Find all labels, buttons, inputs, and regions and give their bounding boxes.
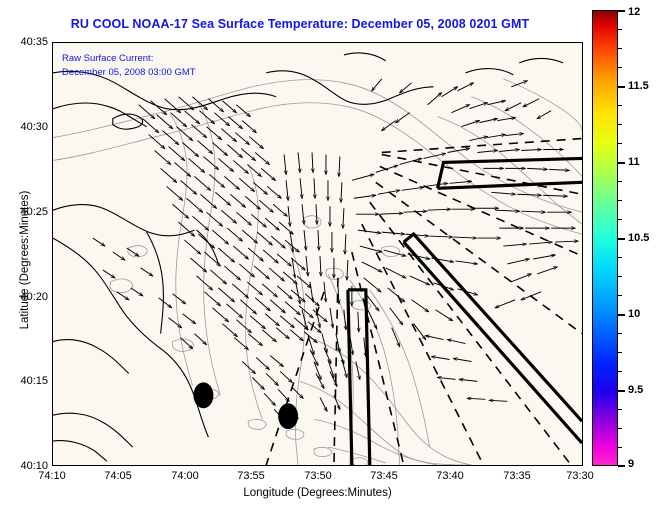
x-tick-label: 73:45: [370, 470, 398, 482]
y-tick-label: 40:35: [20, 36, 48, 48]
page-title: RU COOL NOAA-17 Sea Surface Temperature:…: [0, 17, 600, 31]
y-tick-label: 40:30: [20, 121, 48, 133]
surface-current-vectors: [93, 79, 578, 420]
colorbar-tick-label: 9: [628, 458, 634, 470]
map-vector-canvas: [53, 43, 582, 465]
bathymetry-contours: [53, 79, 582, 465]
x-tick-label: 74:05: [104, 470, 132, 482]
colorbar-tick-label: 11: [628, 156, 640, 168]
colorbar-tick-label: 11.5: [628, 80, 649, 92]
x-tick-label: 73:35: [503, 470, 531, 482]
x-tick-label: 74:00: [171, 470, 199, 482]
screenshot-root: RU COOL NOAA-17 Sea Surface Temperature:…: [0, 0, 660, 519]
colorbar-tick-label: 10.5: [628, 232, 649, 244]
subtitle-block: Raw Surface Current: December 05, 2008 0…: [62, 52, 196, 79]
colorbar-tick-label: 10: [628, 308, 640, 320]
colorbar: 12 11.5 11 10.5 10 9.5 9: [592, 10, 618, 466]
shipping-lane-corridors: [348, 158, 582, 465]
colorbar-gradient: [592, 10, 618, 466]
colorbar-tick-label: 9.5: [628, 384, 643, 396]
colorbar-ticks: [618, 10, 625, 466]
colorbar-tick-label: 12: [628, 6, 640, 18]
x-tick-label: 73:40: [436, 470, 464, 482]
map-plot-area[interactable]: Raw Surface Current: December 05, 2008 0…: [52, 42, 583, 466]
x-tick-label: 74:10: [38, 470, 66, 482]
station-markers: [193, 382, 298, 429]
x-axis-title: Longitude (Degrees:Minutes): [52, 487, 583, 499]
coastline: [53, 53, 563, 461]
x-tick-label: 73:50: [304, 470, 332, 482]
x-tick-label: 73:30: [566, 470, 594, 482]
range-rings-dashed: [266, 139, 582, 465]
y-axis-title: Latitude (Degrees:Minutes): [19, 140, 31, 380]
subtitle-line-1: Raw Surface Current:: [62, 52, 196, 66]
subtitle-line-2: December 05, 2008 03:00 GMT: [62, 66, 196, 80]
x-tick-label: 73:55: [237, 470, 265, 482]
